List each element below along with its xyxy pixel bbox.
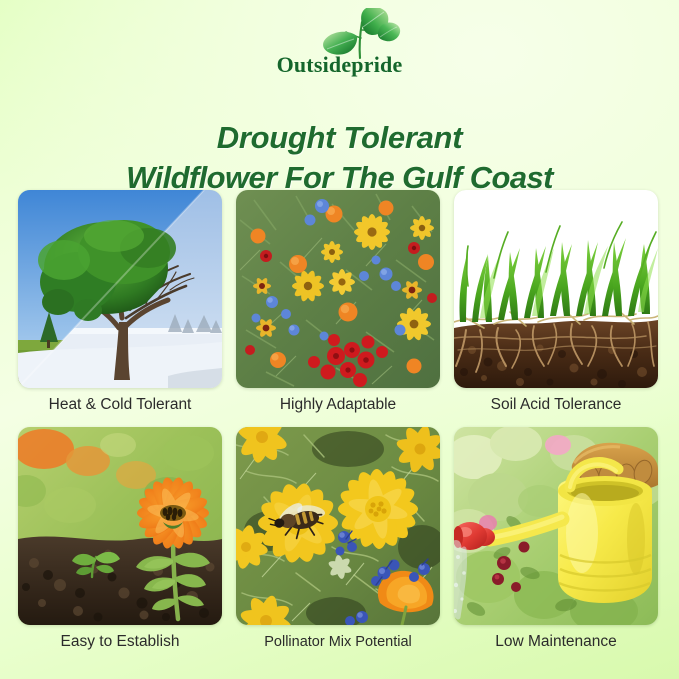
feature-caption: Highly Adaptable bbox=[236, 388, 440, 422]
feature-caption: Soil Acid Tolerance bbox=[454, 388, 658, 422]
sprout-leaves-icon bbox=[300, 8, 410, 60]
poster-headline: Drought Tolerant Wildflower For The Gulf… bbox=[0, 118, 679, 199]
poster-canvas: Outsidepride Drought Tolerant Wildflower… bbox=[0, 0, 679, 679]
feature-card-highly-adaptable: Highly Adaptable bbox=[236, 190, 440, 422]
bee-on-coreopsis-photo bbox=[236, 427, 440, 625]
feature-caption: Pollinator Mix Potential bbox=[236, 625, 440, 659]
grass-soil-cross-section-photo bbox=[454, 190, 658, 388]
feature-caption: Heat & Cold Tolerant bbox=[18, 388, 222, 422]
feature-caption: Low Maintenance bbox=[454, 625, 658, 659]
feature-card-heat-cold-tolerant: Heat & Cold Tolerant bbox=[18, 190, 222, 422]
feature-caption: Easy to Establish bbox=[18, 625, 222, 659]
headline-line-1: Drought Tolerant bbox=[217, 120, 462, 155]
feature-card-easy-to-establish: Easy to Establish bbox=[18, 427, 222, 659]
split-season-tree-photo bbox=[18, 190, 222, 388]
feature-card-low-maintenance: Low Maintenance bbox=[454, 427, 658, 659]
feature-grid: Heat & Cold Tolerant bbox=[18, 190, 664, 659]
feature-card-pollinator-mix-potential: Pollinator Mix Potential bbox=[236, 427, 440, 659]
wildflower-meadow-photo bbox=[236, 190, 440, 388]
watering-can-photo bbox=[454, 427, 658, 625]
feature-card-soil-acid-tolerance: Soil Acid Tolerance bbox=[454, 190, 658, 422]
orange-flower-seedling-photo bbox=[18, 427, 222, 625]
brand-logo: Outsidepride bbox=[0, 8, 679, 94]
